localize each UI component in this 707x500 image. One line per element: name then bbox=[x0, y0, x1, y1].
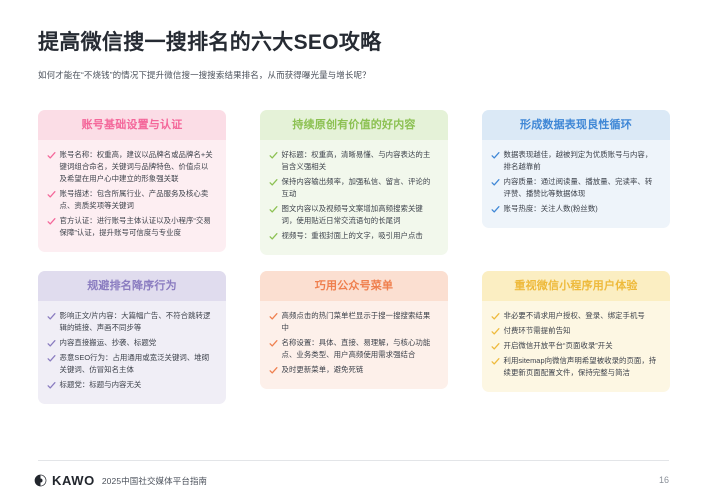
card-body: 非必要不请求用户授权、登录、绑定手机号 付费环节需提前告知 开启微信开放平台“页… bbox=[482, 301, 670, 392]
footer-subtitle: 2025中国社交媒体平台指南 bbox=[102, 475, 207, 487]
check-icon bbox=[269, 205, 278, 214]
page-number: 16 bbox=[659, 475, 669, 485]
check-icon bbox=[47, 151, 56, 160]
check-icon bbox=[269, 366, 278, 375]
check-icon bbox=[47, 312, 56, 321]
check-icon bbox=[491, 312, 500, 321]
slide-footer: KAWO 2025中国社交媒体平台指南 16 bbox=[0, 460, 707, 500]
kawo-logo-icon bbox=[34, 474, 47, 487]
card-title: 巧用公众号菜单 bbox=[260, 271, 448, 301]
page-subtitle: 如何才能在“不烧钱”的情况下提升微信搜一搜搜索结果排名，从而获得曝光量与增长呢？ bbox=[38, 69, 678, 82]
list-item: 付费环节需提前告知 bbox=[491, 325, 659, 337]
page-title: 提高微信搜一搜排名的六大SEO攻略 bbox=[38, 30, 678, 56]
check-icon bbox=[47, 217, 56, 226]
card-title: 形成数据表现良性循环 bbox=[482, 110, 670, 140]
card-body: 影响正文/片内容：大篇幅广告、不符合跳转逻辑的链接、声画不同步等 内容直接搬运、… bbox=[38, 301, 226, 404]
card-data-performance-loop: 形成数据表现良性循环 数据表现越佳，越被判定为优质账号与内容，排名越靠前 内容质… bbox=[482, 110, 670, 228]
slide-header: 提高微信搜一搜排名的六大SEO攻略 如何才能在“不烧钱”的情况下提升微信搜一搜搜… bbox=[38, 30, 678, 82]
check-icon bbox=[269, 339, 278, 348]
card-title: 规避排名降序行为 bbox=[38, 271, 226, 301]
list-item: 账号描述：包含所属行业、产品服务及核心卖点、资质奖项等关键词 bbox=[47, 188, 215, 212]
card-body: 账号名称：权重高，建议以品牌名或品牌名+关键词组合命名，关键词与品牌特色、价值点… bbox=[38, 140, 226, 252]
list-item: 开启微信开放平台“页面收录”开关 bbox=[491, 340, 659, 352]
check-icon bbox=[269, 151, 278, 160]
list-item: 非必要不请求用户授权、登录、绑定手机号 bbox=[491, 310, 659, 322]
list-item-text: 内容直接搬运、抄袭、标题党 bbox=[60, 337, 216, 349]
check-icon bbox=[269, 312, 278, 321]
list-item: 及时更新菜单，避免死链 bbox=[269, 364, 437, 376]
check-icon bbox=[47, 190, 56, 199]
list-item-text: 影响正文/片内容：大篇幅广告、不符合跳转逻辑的链接、声画不同步等 bbox=[60, 310, 216, 334]
list-item-text: 账号热度：关注人数(粉丝数) bbox=[504, 203, 660, 215]
card-official-account-menu: 巧用公众号菜单 高频点击的热门菜单栏显示于搜一搜搜索结果中 名称设置：具体、直接… bbox=[260, 271, 448, 389]
list-item: 影响正文/片内容：大篇幅广告、不符合跳转逻辑的链接、声画不同步等 bbox=[47, 310, 215, 334]
list-item-text: 内容质量：通过阅读量、播放量、完读率、转评赞、播赞比等数据体现 bbox=[504, 176, 660, 200]
list-item-text: 名称设置：具体、直接、易理解，与核心功能点、业务类型、用户高频使用需求强结合 bbox=[282, 337, 438, 361]
list-item: 视频号：重视封面上的文字，吸引用户点击 bbox=[269, 230, 437, 242]
card-body: 好标题：权重高，清晰易懂、与内容表达的主旨含义强相关 保持内容输出频率，加强私信… bbox=[260, 140, 448, 255]
list-item-text: 利用sitemap向微信声明希望被收录的页面，持续更新页面配置文件，保持完整与简… bbox=[504, 355, 660, 379]
check-icon bbox=[47, 339, 56, 348]
check-icon bbox=[491, 357, 500, 366]
list-item-text: 数据表现越佳，越被判定为优质账号与内容，排名越靠前 bbox=[504, 149, 660, 173]
list-item-text: 及时更新菜单，避免死链 bbox=[282, 364, 438, 376]
slide: 提高微信搜一搜排名的六大SEO攻略 如何才能在“不烧钱”的情况下提升微信搜一搜搜… bbox=[0, 0, 707, 500]
list-item-text: 保持内容输出频率，加强私信、留言、评论的互动 bbox=[282, 176, 438, 200]
list-item: 内容质量：通过阅读量、播放量、完读率、转评赞、播赞比等数据体现 bbox=[491, 176, 659, 200]
card-title: 持续原创有价值的好内容 bbox=[260, 110, 448, 140]
list-item-text: 账号名称：权重高，建议以品牌名或品牌名+关键词组合命名，关键词与品牌特色、价值点… bbox=[60, 149, 216, 185]
card-original-valuable-content: 持续原创有价值的好内容 好标题：权重高，清晰易懂、与内容表达的主旨含义强相关 保… bbox=[260, 110, 448, 255]
list-item: 账号热度：关注人数(粉丝数) bbox=[491, 203, 659, 215]
card-body: 数据表现越佳，越被判定为优质账号与内容，排名越靠前 内容质量：通过阅读量、播放量… bbox=[482, 140, 670, 228]
list-item: 好标题：权重高，清晰易懂、与内容表达的主旨含义强相关 bbox=[269, 149, 437, 173]
card-title: 重视微信小程序用户体验 bbox=[482, 271, 670, 301]
check-icon bbox=[47, 381, 56, 390]
card-miniprogram-user-experience: 重视微信小程序用户体验 非必要不请求用户授权、登录、绑定手机号 付费环节需提前告… bbox=[482, 271, 670, 392]
list-item-text: 官方认证：进行账号主体认证以及小程序“交易保障”认证，提升账号可信度与专业度 bbox=[60, 215, 216, 239]
list-item: 官方认证：进行账号主体认证以及小程序“交易保障”认证，提升账号可信度与专业度 bbox=[47, 215, 215, 239]
list-item-text: 恶意SEO行为：占用通用或宽泛关键词、堆砌关键词、仿冒知名主体 bbox=[60, 352, 216, 376]
check-icon bbox=[269, 232, 278, 241]
list-item: 账号名称：权重高，建议以品牌名或品牌名+关键词组合命名，关键词与品牌特色、价值点… bbox=[47, 149, 215, 185]
list-item-text: 非必要不请求用户授权、登录、绑定手机号 bbox=[504, 310, 660, 322]
check-icon bbox=[269, 178, 278, 187]
list-item-text: 视频号：重视封面上的文字，吸引用户点击 bbox=[282, 230, 438, 242]
list-item: 高频点击的热门菜单栏显示于搜一搜搜索结果中 bbox=[269, 310, 437, 334]
check-icon bbox=[491, 178, 500, 187]
check-icon bbox=[491, 151, 500, 160]
footer-divider bbox=[38, 460, 669, 461]
check-icon bbox=[491, 327, 500, 336]
card-title: 账号基础设置与认证 bbox=[38, 110, 226, 140]
list-item-text: 好标题：权重高，清晰易懂、与内容表达的主旨含义强相关 bbox=[282, 149, 438, 173]
kawo-logo-wordmark: KAWO bbox=[52, 473, 95, 488]
card-avoid-ranking-demotion: 规避排名降序行为 影响正文/片内容：大篇幅广告、不符合跳转逻辑的链接、声画不同步… bbox=[38, 271, 226, 404]
list-item: 保持内容输出频率，加强私信、留言、评论的互动 bbox=[269, 176, 437, 200]
list-item: 内容直接搬运、抄袭、标题党 bbox=[47, 337, 215, 349]
check-icon bbox=[491, 342, 500, 351]
seo-strategy-card-grid: 账号基础设置与认证 账号名称：权重高，建议以品牌名或品牌名+关键词组合命名，关键… bbox=[38, 110, 670, 404]
check-icon bbox=[491, 205, 500, 214]
list-item: 名称设置：具体、直接、易理解，与核心功能点、业务类型、用户高频使用需求强结合 bbox=[269, 337, 437, 361]
footer-brand: KAWO 2025中国社交媒体平台指南 bbox=[34, 473, 207, 488]
list-item: 标题党：标题与内容无关 bbox=[47, 379, 215, 391]
list-item: 利用sitemap向微信声明希望被收录的页面，持续更新页面配置文件，保持完整与简… bbox=[491, 355, 659, 379]
card-body: 高频点击的热门菜单栏显示于搜一搜搜索结果中 名称设置：具体、直接、易理解，与核心… bbox=[260, 301, 448, 389]
list-item-text: 标题党：标题与内容无关 bbox=[60, 379, 216, 391]
list-item-text: 高频点击的热门菜单栏显示于搜一搜搜索结果中 bbox=[282, 310, 438, 334]
list-item: 恶意SEO行为：占用通用或宽泛关键词、堆砌关键词、仿冒知名主体 bbox=[47, 352, 215, 376]
list-item: 图文内容以及视频号文案增加高频搜索关键词，使用贴近日常交流语句的长尾词 bbox=[269, 203, 437, 227]
check-icon bbox=[47, 354, 56, 363]
list-item-text: 账号描述：包含所属行业、产品服务及核心卖点、资质奖项等关键词 bbox=[60, 188, 216, 212]
list-item-text: 付费环节需提前告知 bbox=[504, 325, 660, 337]
list-item-text: 图文内容以及视频号文案增加高频搜索关键词，使用贴近日常交流语句的长尾词 bbox=[282, 203, 438, 227]
card-account-basic-setup: 账号基础设置与认证 账号名称：权重高，建议以品牌名或品牌名+关键词组合命名，关键… bbox=[38, 110, 226, 252]
list-item-text: 开启微信开放平台“页面收录”开关 bbox=[504, 340, 660, 352]
list-item: 数据表现越佳，越被判定为优质账号与内容，排名越靠前 bbox=[491, 149, 659, 173]
